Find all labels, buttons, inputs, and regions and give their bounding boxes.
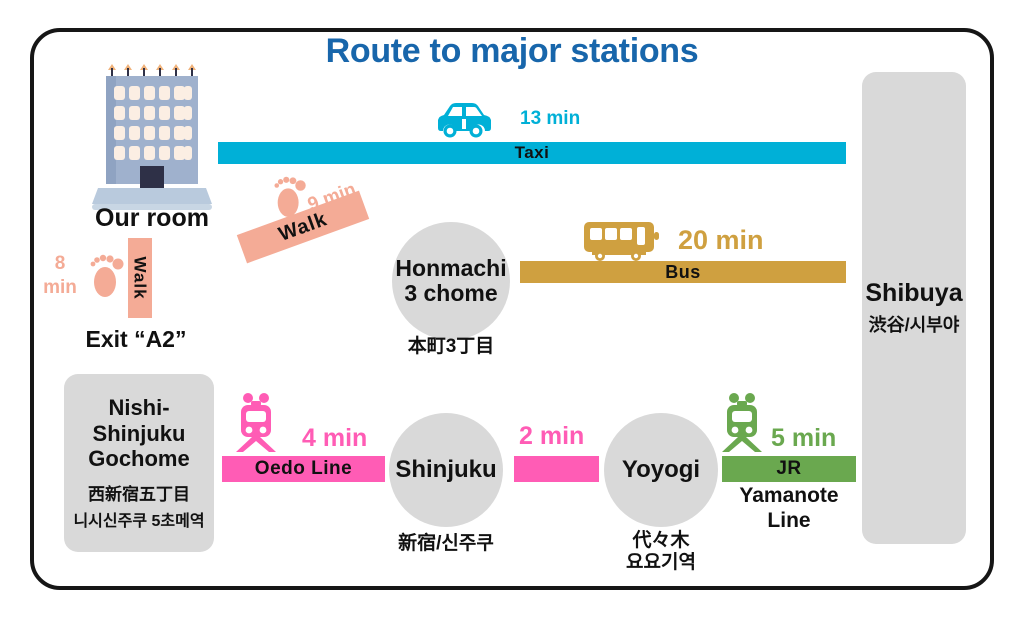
building-icon (92, 62, 212, 212)
oedo-duration: 4 min (302, 424, 367, 453)
train-icon (718, 392, 766, 459)
nishi-name-line3: Gochome (88, 446, 189, 471)
jr-sublabel-line1: Yamanote (739, 484, 838, 507)
shibuya-name: Shibuya (865, 279, 962, 308)
honmachi-name-line2: 3 chome (404, 280, 497, 306)
oedo-line-bar[interactable]: Oedo Line (222, 456, 385, 482)
shinjuku-jp-ko-label: 新宿/신주쿠 (376, 533, 516, 555)
car-icon (432, 98, 494, 145)
yoyogi-jp-label: 代々木 (632, 530, 689, 551)
bus-bar[interactable]: Bus (520, 261, 846, 283)
yoyogi-jp-ko-label: 代々木 요요기역 (591, 530, 731, 575)
footprint-icon (88, 248, 128, 305)
yoyogi-name: Yoyogi (622, 457, 700, 483)
walk-exit-bar-label: Walk (130, 256, 150, 299)
jr-sublabel-line2: Line (767, 509, 810, 532)
station-nishi-shinjuku-gochome[interactable]: Nishi- Shinjuku Gochome 西新宿五丁目 니시신주쿠 5초메… (64, 374, 214, 552)
our-room-label: Our room (62, 204, 242, 233)
exit-a2-label: Exit “A2” (46, 326, 226, 353)
nishi-name-line1: Nishi- (108, 395, 169, 420)
oedo-line-bar-label: Oedo Line (255, 458, 352, 480)
bus-icon (582, 220, 660, 267)
taxi-duration: 13 min (520, 108, 580, 130)
station-yoyogi[interactable]: Yoyogi (604, 413, 718, 527)
station-shibuya[interactable]: Shibuya 渋谷/시부야 (862, 72, 966, 544)
shibuya-jp-ko-label: 渋谷/시부야 (869, 311, 960, 337)
yoyogi-ko-label: 요요기역 (626, 552, 696, 573)
bus-duration: 20 min (678, 225, 764, 256)
walk-exit-duration: 8 min (38, 252, 82, 300)
honmachi-jp-label: 本町3丁目 (381, 336, 521, 358)
shinjuku-name: Shinjuku (395, 457, 496, 483)
taxi-bar-label: Taxi (515, 143, 550, 163)
walk-exit-duration-unit: min (43, 277, 77, 298)
jr-yamanote-line-label: Yamanote Line (714, 484, 864, 534)
station-honmachi[interactable]: Honmachi 3 chome (392, 222, 510, 340)
taxi-bar[interactable]: Taxi (218, 142, 846, 164)
nishi-ko-label: 니시신주쿠 5초메역 (73, 507, 204, 531)
jr-bar-label: JR (776, 458, 801, 480)
nishi-name-line2: Shinjuku (93, 421, 186, 446)
walk-exit-duration-value: 8 (55, 253, 66, 274)
station-shinjuku[interactable]: Shinjuku (389, 413, 503, 527)
jr-duration: 5 min (771, 424, 836, 453)
bus-bar-label: Bus (665, 262, 701, 283)
shinjuku-yoyogi-duration: 2 min (519, 422, 584, 451)
honmachi-name-line1: Honmachi (395, 255, 506, 281)
walk-exit-bar[interactable]: Walk (128, 238, 152, 318)
train-icon (232, 392, 280, 459)
route-map-diagram: Route to major stations (0, 0, 1024, 619)
nishi-jp-label: 西新宿五丁目 (88, 480, 190, 505)
shinjuku-yoyogi-bar[interactable] (514, 456, 599, 482)
jr-bar[interactable]: JR (722, 456, 856, 482)
